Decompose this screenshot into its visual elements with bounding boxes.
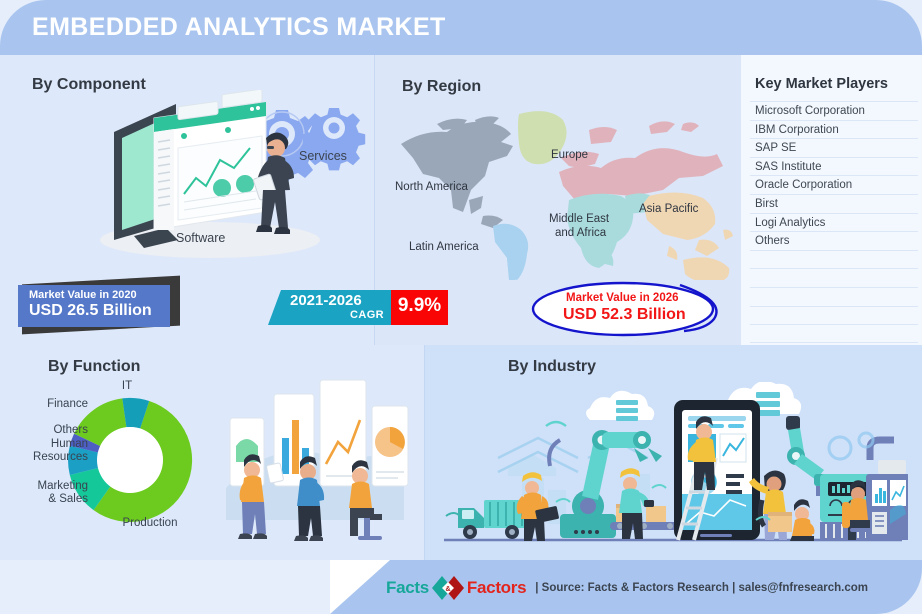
label-services: Services: [299, 149, 347, 163]
ms-line2: & Sales: [48, 493, 88, 505]
badge-market-value-2020: Market Value in 2020 USD 26.5 Billion: [18, 285, 174, 327]
fnf-diamond-logo-icon: &: [431, 575, 465, 601]
list-item-empty: [750, 268, 918, 287]
section-title-industry: By Industry: [508, 358, 596, 376]
panel-divider-vertical-bottom: [424, 345, 425, 560]
svg-text:Europe: Europe: [551, 149, 588, 161]
page-title: EMBEDDED ANALYTICS MARKET: [32, 13, 446, 42]
list-item: Others: [750, 231, 918, 250]
cagr-years: 2021-2026: [290, 292, 362, 309]
cagr-label: CAGR: [290, 309, 384, 321]
map-region-latin-america: [493, 224, 528, 280]
list-item: SAS Institute: [750, 157, 918, 176]
world-map: North America Europe Asia Pacific Middle…: [383, 100, 739, 280]
players-panel-title: Key Market Players: [755, 76, 888, 92]
donut-label-human-resources: Human Resources: [8, 438, 88, 464]
map-region-north-america: [401, 116, 513, 228]
svg-text:Latin America: Latin America: [409, 241, 479, 253]
industry-illustration: [438, 382, 908, 554]
svg-text:Middle East: Middle East: [549, 213, 610, 225]
badge-2020-value: USD 26.5 Billion: [29, 302, 152, 320]
footer-source-text: | Source: Facts & Factors Research | sal…: [535, 582, 868, 594]
badge-cagr: 2021-2026 CAGR 9.9%: [268, 290, 448, 325]
svg-text:&: &: [445, 586, 450, 593]
section-title-function: By Function: [48, 358, 140, 376]
list-item-empty: [750, 250, 918, 269]
list-item: Birst: [750, 194, 918, 213]
players-list: Microsoft Corporation IBM Corporation SA…: [750, 101, 918, 343]
label-software: Software: [176, 231, 225, 245]
list-item-empty: [750, 306, 918, 325]
donut-label-finance: Finance: [28, 398, 88, 411]
map-region-europe: [559, 121, 723, 202]
list-item: IBM Corporation: [750, 120, 918, 139]
function-illustration: [208, 372, 418, 554]
hr-line1: Human: [51, 438, 88, 450]
callout-market-value-2026: Market Value in 2026 USD 52.3 Billion: [530, 281, 736, 339]
donut-label-it: IT: [110, 380, 144, 393]
ms-line1: Marketing: [38, 480, 89, 492]
list-item-empty: [750, 324, 918, 343]
section-title-region: By Region: [402, 78, 481, 96]
svg-text:and Africa: and Africa: [555, 227, 607, 239]
hr-line2: Resources: [33, 451, 88, 463]
list-item: Microsoft Corporation: [750, 101, 918, 120]
donut-label-marketing-sales: Marketing & Sales: [14, 480, 88, 506]
svg-text:North America: North America: [395, 181, 468, 193]
list-item: Logi Analytics: [750, 213, 918, 232]
logo-text-factors: Factors: [467, 578, 526, 598]
list-item: Oracle Corporation: [750, 175, 918, 194]
callout-2026-value: USD 52.3 Billion: [563, 306, 686, 324]
list-item: SAP SE: [750, 138, 918, 157]
list-item-empty: [750, 287, 918, 306]
footer-content: Facts & Factors | Source: Facts & Factor…: [386, 575, 868, 601]
donut-label-production: Production: [100, 517, 200, 530]
page-header: EMBEDDED ANALYTICS MARKET: [0, 0, 922, 55]
infographic-page: EMBEDDED ANALYTICS MARKET By Component: [0, 0, 922, 614]
logo-text-facts: Facts: [386, 578, 429, 598]
svg-text:Asia Pacific: Asia Pacific: [639, 203, 699, 215]
cagr-value: 9.9%: [391, 295, 448, 317]
donut-label-others: Others: [28, 424, 88, 437]
badge-2020-label: Market Value in 2020: [29, 289, 137, 301]
callout-2026-label: Market Value in 2026: [566, 292, 679, 304]
